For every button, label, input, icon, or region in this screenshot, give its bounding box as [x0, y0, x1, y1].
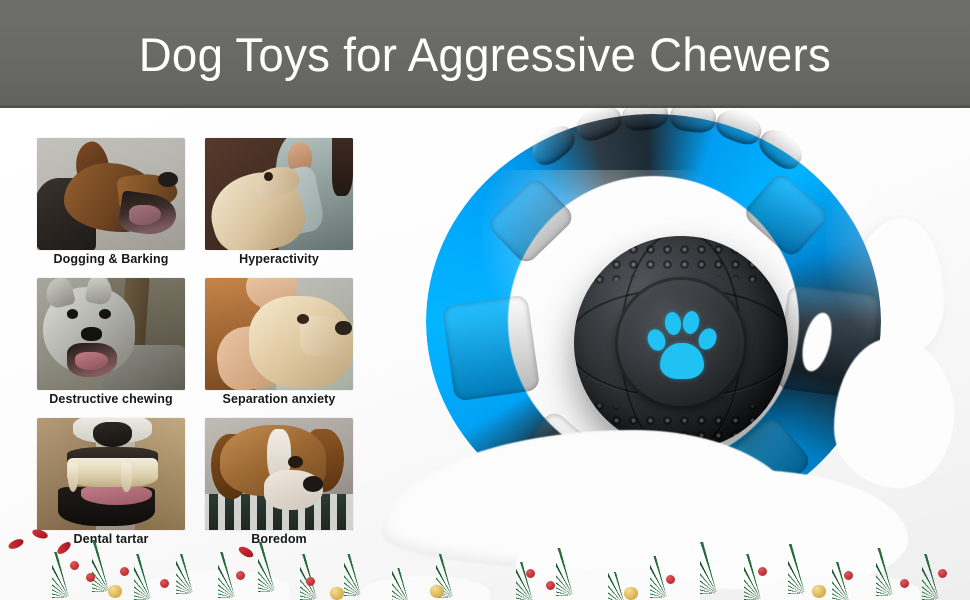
red-berry-icon — [120, 567, 129, 576]
red-berry-icon — [306, 577, 315, 586]
caption-hyperactivity: Hyperactivity — [205, 252, 353, 266]
chew-ball — [574, 236, 788, 450]
red-berry-icon — [844, 571, 853, 580]
red-berry-icon — [900, 579, 909, 588]
problem-grid: Dogging & Barking Hyperactivity — [37, 138, 357, 558]
red-berry-icon — [546, 581, 555, 590]
pine-branch-icon — [516, 562, 550, 600]
pine-branch-icon — [700, 542, 734, 594]
caption-dogging-barking: Dogging & Barking — [37, 252, 185, 266]
pine-branch-icon — [258, 542, 292, 592]
paw-print-icon — [646, 307, 716, 379]
pine-branch-icon — [556, 548, 590, 596]
product-image — [398, 108, 958, 576]
grid-item-destructive-chewing: Destructive chewing — [37, 278, 185, 418]
photo-barking-dog — [37, 138, 185, 250]
thumbnail-destructive-chewing — [37, 278, 185, 390]
gold-ornament-icon — [330, 587, 344, 600]
red-berry-icon — [526, 569, 535, 578]
red-berry-icon — [236, 571, 245, 580]
pine-branch-icon — [344, 554, 378, 596]
red-berry-icon — [86, 573, 95, 582]
gold-ornament-icon — [108, 585, 122, 598]
pine-branch-icon — [392, 568, 426, 600]
red-petal-icon — [7, 537, 25, 551]
photo-bored-beagle — [205, 418, 353, 530]
pine-branch-icon — [744, 554, 778, 600]
thumbnail-hyperactivity — [205, 138, 353, 250]
pine-branch-icon — [134, 554, 168, 600]
chew-toy-ring — [426, 114, 896, 534]
christmas-garland — [0, 528, 970, 600]
page-title: Dog Toys for Aggressive Chewers — [139, 31, 831, 78]
pine-branch-icon — [52, 552, 86, 598]
red-berry-icon — [938, 569, 947, 578]
gold-ornament-icon — [812, 585, 826, 598]
thumbnail-dental-tartar — [37, 418, 185, 530]
photo-hyperactive-dog — [205, 138, 353, 250]
ring-band — [442, 294, 541, 401]
photo-hugging-dog — [205, 278, 353, 390]
thumbnail-dogging-barking — [37, 138, 185, 250]
caption-separation-anxiety: Separation anxiety — [205, 392, 353, 406]
pine-branch-icon — [92, 540, 126, 592]
red-berry-icon — [666, 575, 675, 584]
red-berry-icon — [160, 579, 169, 588]
main-stage: Dogging & Barking Hyperactivity — [0, 108, 970, 600]
caption-destructive-chewing: Destructive chewing — [37, 392, 185, 406]
grid-item-hyperactivity: Hyperactivity — [205, 138, 353, 278]
pine-branch-icon — [876, 548, 910, 596]
pine-branch-icon — [176, 554, 210, 594]
gold-ornament-icon — [430, 585, 444, 598]
gold-ornament-icon — [624, 587, 638, 600]
thumbnail-separation-anxiety — [205, 278, 353, 390]
photo-dog-teeth — [37, 418, 185, 530]
ball-center-disc — [615, 277, 747, 409]
header-banner: Dog Toys for Aggressive Chewers — [0, 0, 970, 108]
pine-branch-icon — [300, 554, 334, 600]
product-banner: Dog Toys for Aggressive Chewers Dogging … — [0, 0, 970, 600]
grid-item-dogging-barking: Dogging & Barking — [37, 138, 185, 278]
red-berry-icon — [70, 561, 79, 570]
pine-branch-icon — [832, 562, 866, 600]
thumbnail-boredom — [205, 418, 353, 530]
pine-branch-icon — [218, 552, 252, 598]
red-petal-icon — [31, 528, 49, 540]
photo-chewing-dog — [37, 278, 185, 390]
red-berry-icon — [758, 567, 767, 576]
ring-band — [776, 285, 880, 399]
grid-item-separation-anxiety: Separation anxiety — [205, 278, 353, 418]
